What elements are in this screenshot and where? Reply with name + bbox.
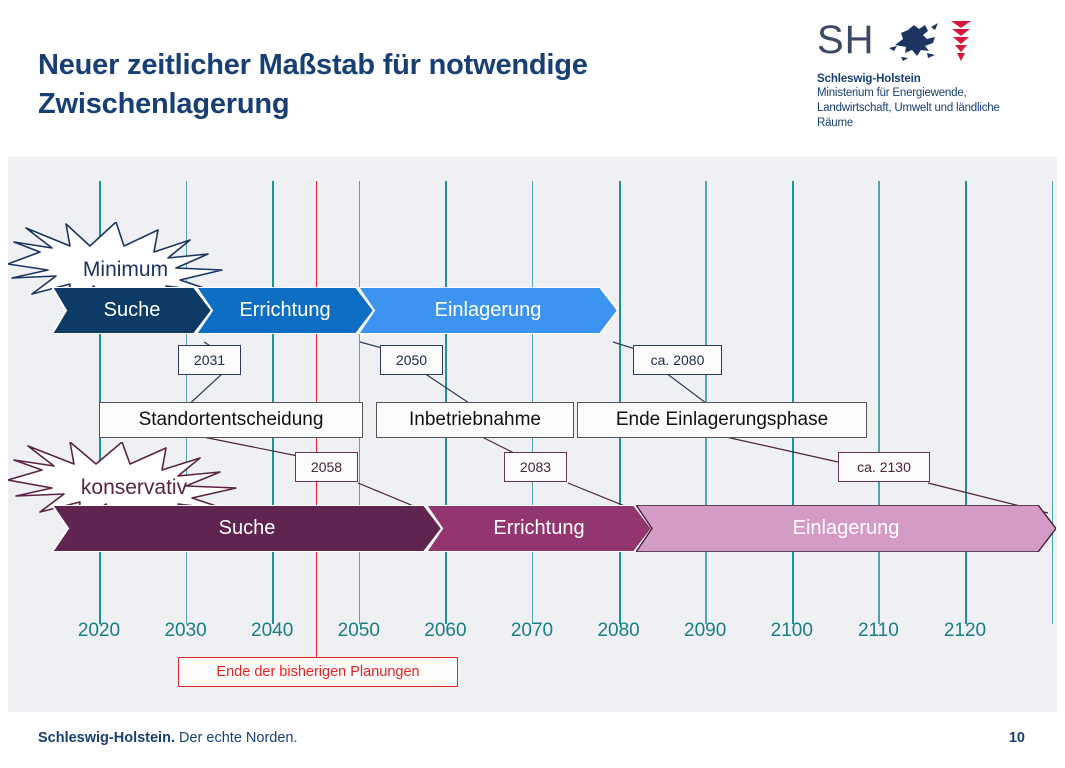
callout-min-2031-label: 2031 bbox=[194, 352, 225, 368]
phase-kon-suche: Suche bbox=[52, 505, 442, 552]
logo-mark-row: SH bbox=[817, 14, 1027, 66]
year-label-2050: 2050 bbox=[338, 620, 380, 642]
coat-of-arms-icon bbox=[881, 15, 981, 65]
callout-min-2050: 2050 bbox=[380, 345, 443, 375]
year-label-2030: 2030 bbox=[164, 620, 206, 642]
event-standortentscheidung-label: Standortentscheidung bbox=[139, 409, 324, 431]
callout-kon-2130: ca. 2130 bbox=[838, 452, 930, 482]
year-label-2090: 2090 bbox=[684, 620, 726, 642]
phase-min-suche: Suche bbox=[52, 287, 212, 334]
event-inbetriebnahme: Inbetriebnahme bbox=[376, 402, 574, 438]
footer-claim: Schleswig-Holstein. Der echte Norden. bbox=[38, 730, 298, 746]
callout-kon-2058-label: 2058 bbox=[311, 459, 342, 475]
gridline-2130 bbox=[1052, 181, 1053, 624]
phase-min-einlagerung: Einlagerung bbox=[358, 287, 618, 334]
event-ende-einlagerungsphase: Ende Einlagerungsphase bbox=[577, 402, 867, 438]
note-ende-bisheriger-planungen-label: Ende der bisherigen Planungen bbox=[216, 664, 419, 680]
callout-min-2080: ca. 2080 bbox=[633, 345, 722, 375]
phase-kon-errichtung: Errichtung bbox=[426, 505, 652, 552]
phase-min-suche-label: Suche bbox=[104, 299, 161, 322]
timeline-chart: 2020203020402050206020702080209021002110… bbox=[8, 157, 1057, 712]
phase-min-einlagerung-label: Einlagerung bbox=[435, 299, 542, 322]
gridline-2120 bbox=[965, 181, 967, 624]
callout-min-2031: 2031 bbox=[178, 345, 241, 375]
event-standortentscheidung: Standortentscheidung bbox=[99, 402, 363, 438]
note-ende-bisheriger-planungen: Ende der bisherigen Planungen bbox=[178, 657, 458, 687]
year-label-2060: 2060 bbox=[424, 620, 466, 642]
year-label-2120: 2120 bbox=[944, 620, 986, 642]
event-inbetriebnahme-label: Inbetriebnahme bbox=[409, 409, 541, 431]
footer-tagline: Der echte Norden. bbox=[175, 730, 298, 746]
ministry-logo: SH Schleswig- bbox=[817, 14, 1027, 132]
phase-kon-errichtung-label: Errichtung bbox=[493, 517, 584, 540]
logo-department-name: Ministerium für Energiewende, Landwirtsc… bbox=[817, 86, 1027, 132]
gridline-2110 bbox=[878, 181, 879, 624]
year-label-2100: 2100 bbox=[771, 620, 813, 642]
phase-min-errichtung: Errichtung bbox=[196, 287, 374, 334]
event-ende-einlagerungsphase-label: Ende Einlagerungsphase bbox=[616, 409, 828, 431]
slide-footer: Schleswig-Holstein. Der echte Norden. 10 bbox=[0, 712, 1065, 768]
sh-monogram: SH bbox=[817, 20, 875, 60]
footer-divider bbox=[0, 712, 1065, 713]
callout-kon-2083-label: 2083 bbox=[520, 459, 551, 475]
page-number: 10 bbox=[1009, 730, 1025, 746]
phase-kon-einlagerung-label: Einlagerung bbox=[793, 517, 900, 540]
callout-kon-2083: 2083 bbox=[504, 452, 567, 482]
callout-kon-2058: 2058 bbox=[295, 452, 358, 482]
slide-header: Neuer zeitlicher Maßstab für notwendige … bbox=[0, 0, 1065, 155]
year-label-2020: 2020 bbox=[78, 620, 120, 642]
footer-brand: Schleswig-Holstein. bbox=[38, 730, 175, 746]
phase-kon-suche-label: Suche bbox=[219, 517, 276, 540]
callout-min-2050-label: 2050 bbox=[396, 352, 427, 368]
page-title: Neuer zeitlicher Maßstab für notwendige … bbox=[38, 46, 738, 123]
year-label-2080: 2080 bbox=[597, 620, 639, 642]
year-label-2110: 2110 bbox=[858, 620, 899, 642]
callout-kon-2130-label: ca. 2130 bbox=[857, 459, 911, 475]
logo-state-name: Schleswig-Holstein bbox=[817, 73, 1027, 85]
year-label-2070: 2070 bbox=[511, 620, 553, 642]
callout-min-2080-label: ca. 2080 bbox=[651, 352, 705, 368]
phase-kon-einlagerung: Einlagerung bbox=[636, 505, 1056, 552]
phase-min-errichtung-label: Errichtung bbox=[239, 299, 330, 322]
year-label-2040: 2040 bbox=[251, 620, 293, 642]
